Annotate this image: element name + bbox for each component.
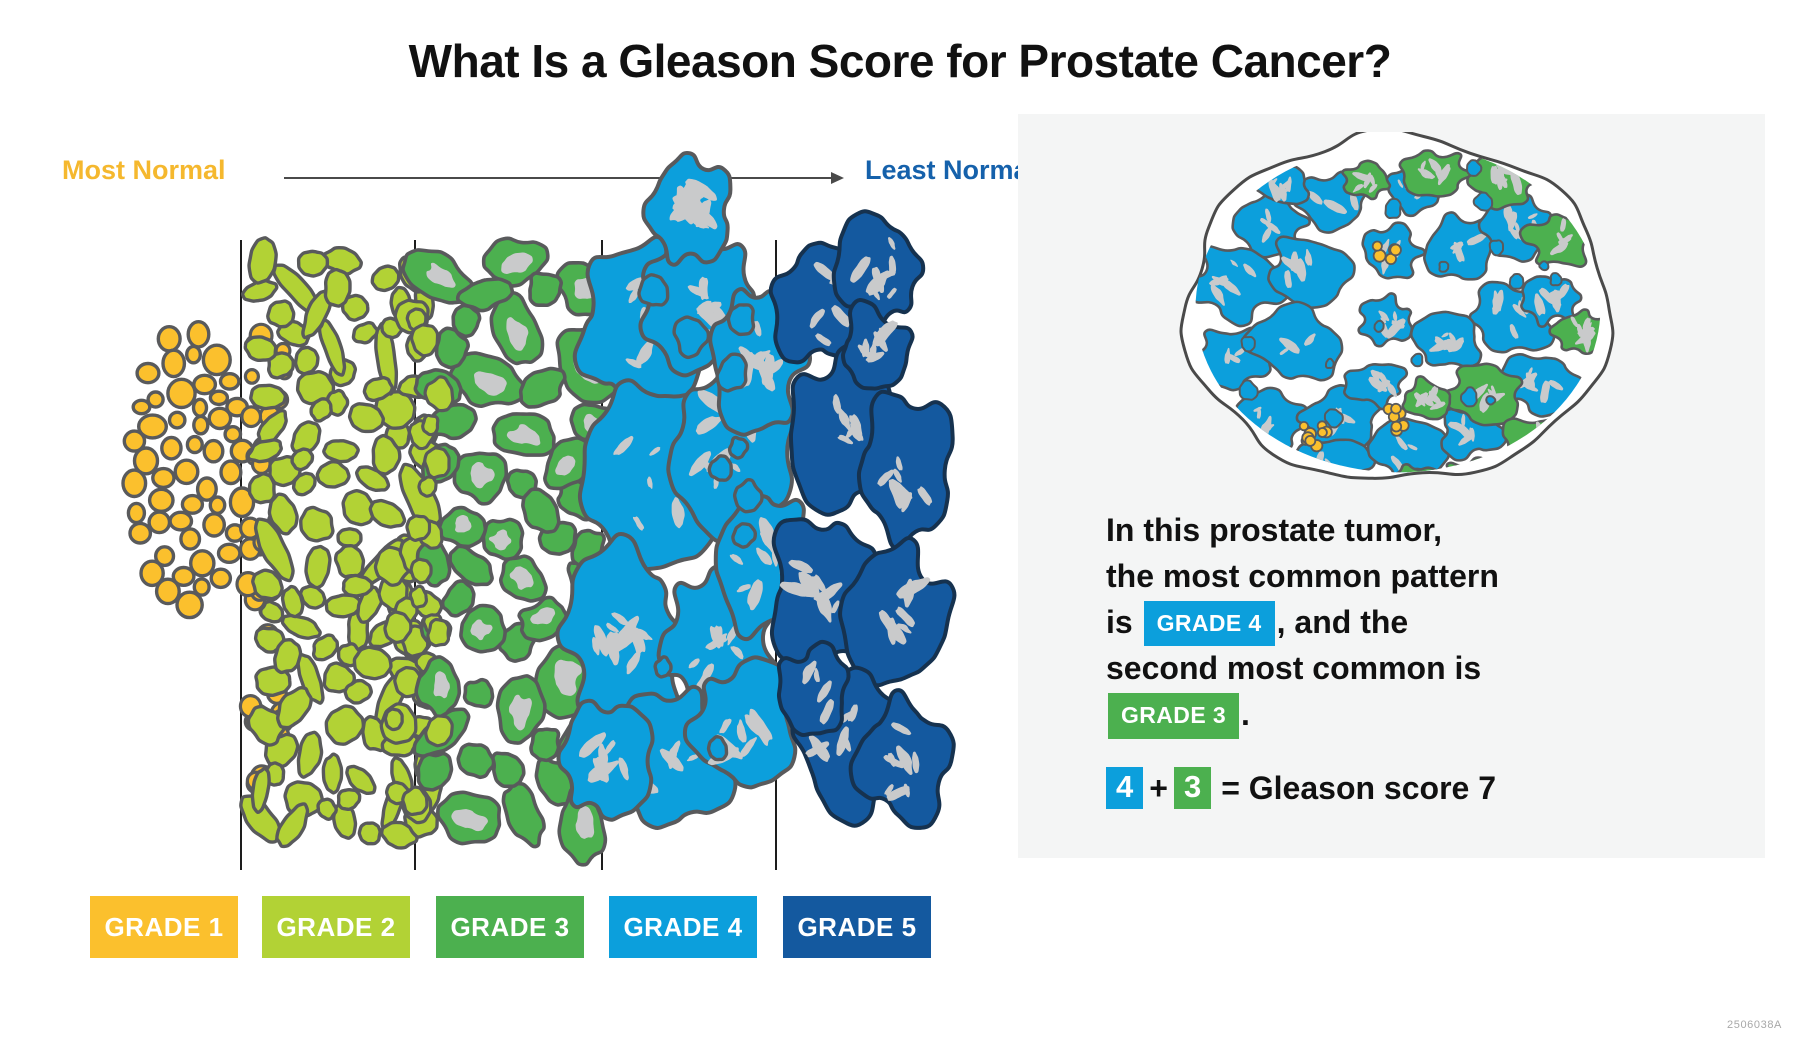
- tumor-description-line-2: the most common pattern: [1106, 554, 1726, 600]
- equation-first-number: 4: [1106, 767, 1143, 809]
- tumor-description: In this prostate tumor, the most common …: [1106, 508, 1726, 739]
- equation-second-number: 3: [1174, 767, 1211, 809]
- gleason-pattern-illustration: [0, 0, 1160, 1045]
- gleason-score-equation: 4 + 3 = Gleason score 7: [1106, 767, 1496, 809]
- grade-bar-2[interactable]: GRADE 2: [262, 896, 410, 958]
- tumor-description-line-5: GRADE 3.: [1106, 692, 1726, 739]
- equation-result: = Gleason score 7: [1211, 770, 1496, 807]
- grade-bar-3[interactable]: GRADE 3: [436, 896, 584, 958]
- tumor-description-line-1: In this prostate tumor,: [1106, 508, 1726, 554]
- grade-bar-1[interactable]: GRADE 1: [90, 896, 238, 958]
- equation-operator: +: [1143, 770, 1174, 807]
- grade-legend-bars: GRADE 1 GRADE 2 GRADE 3 GRADE 4 GRADE 5: [0, 896, 1160, 958]
- grade-bar-5[interactable]: GRADE 5: [783, 896, 931, 958]
- grade-bar-3-label: GRADE 3: [450, 912, 569, 943]
- line3-prefix: is: [1106, 604, 1133, 640]
- tumor-description-line-3: is GRADE 4, and the: [1106, 600, 1726, 647]
- grade-scale-section: Most Normal Least Normal GRADE 1 GRADE 2…: [0, 0, 1160, 1045]
- line3-suffix: , and the: [1277, 604, 1409, 640]
- line5-suffix: .: [1241, 696, 1250, 732]
- source-code-label: 2506038A: [1727, 1019, 1782, 1031]
- grade-3-chip: GRADE 3: [1108, 693, 1239, 739]
- tumor-example-panel: In this prostate tumor, the most common …: [1018, 114, 1765, 858]
- tumor-description-line-4: second most common is: [1106, 646, 1726, 692]
- grade-bar-2-label: GRADE 2: [276, 912, 395, 943]
- grade-bar-1-label: GRADE 1: [104, 912, 223, 943]
- grade-bar-5-label: GRADE 5: [797, 912, 916, 943]
- prostate-tumor-illustration: [1118, 132, 1678, 490]
- grade-4-chip: GRADE 4: [1144, 601, 1275, 647]
- grade-bar-4-label: GRADE 4: [623, 912, 742, 943]
- grade-bar-4[interactable]: GRADE 4: [609, 896, 757, 958]
- infographic-root: What Is a Gleason Score for Prostate Can…: [0, 0, 1800, 1045]
